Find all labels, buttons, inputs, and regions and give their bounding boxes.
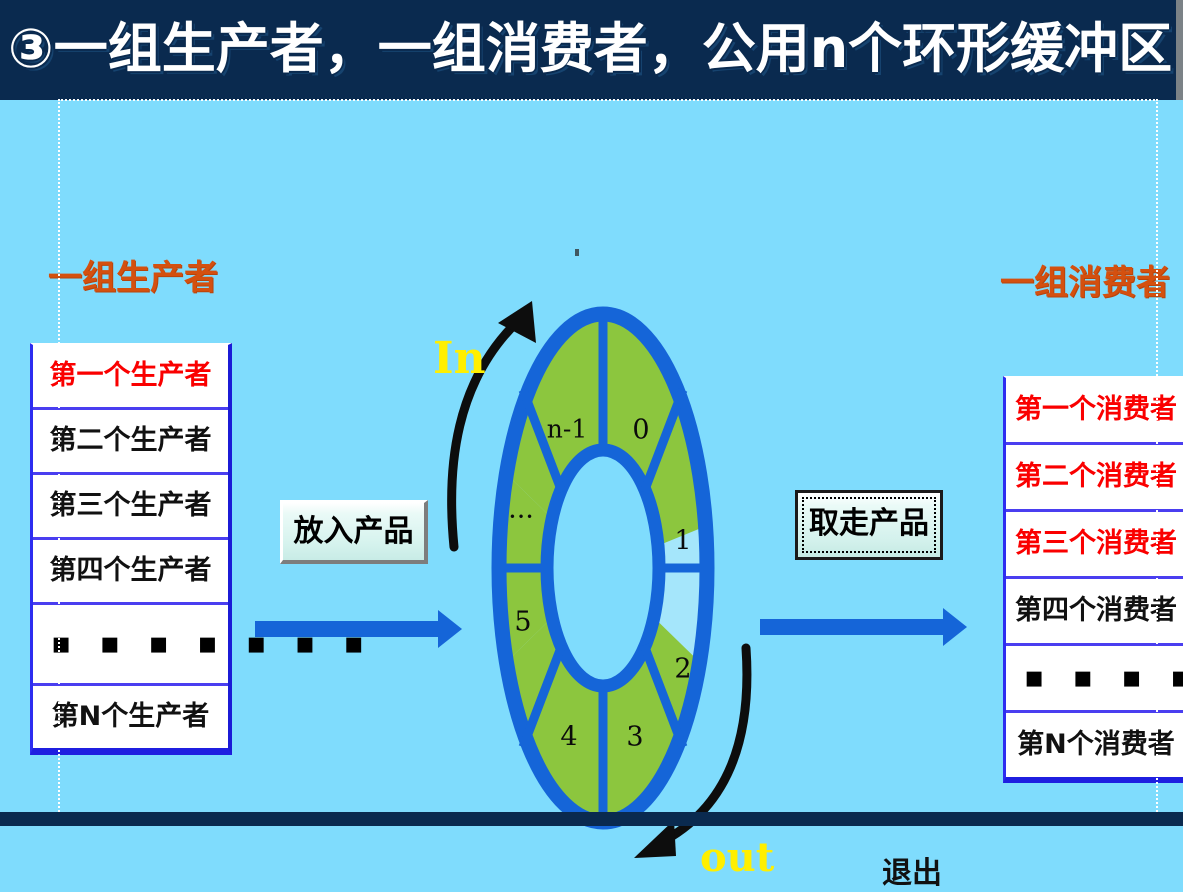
ring-segment-label-n-1: n-1 — [547, 415, 587, 444]
take-product-button[interactable]: 取走产品 — [795, 490, 943, 560]
page-title: ③一组生产者，一组消费者，公用n个环形缓冲区 — [8, 4, 1173, 94]
list-item-ellipsis: ▪ ▪ ▪ ▪ ▪ ▪ ▪ — [33, 605, 228, 686]
ring-segment-label-1: 1 — [674, 526, 691, 557]
list-item[interactable]: 第三个生产者 — [33, 475, 228, 540]
stray-dot — [575, 249, 579, 256]
flow-arrow-producer-to-buffer — [255, 621, 440, 637]
out-label: out — [700, 834, 774, 881]
exit-label: 退出 — [882, 848, 942, 892]
take-product-button-label: 取走产品 — [802, 497, 936, 553]
producer-list: 第一个生产者 第二个生产者 第三个生产者 第四个生产者 ▪ ▪ ▪ ▪ ▪ ▪ … — [30, 343, 232, 755]
list-item[interactable]: 第二个消费者 — [1006, 445, 1183, 512]
ring-segment-label-5: 5 — [514, 607, 531, 638]
list-item[interactable]: 第四个生产者 — [33, 540, 228, 605]
flow-arrow-buffer-to-consumer — [760, 619, 945, 635]
list-item[interactable]: 第N个消费者 — [1006, 713, 1183, 777]
slide-body: 一组生产者 一组消费者 第一个生产者 第二个生产者 第三个生产者 第四个生产者 … — [0, 100, 1183, 812]
list-item[interactable]: 第三个消费者 — [1006, 512, 1183, 579]
ring-segment-label-0: 0 — [632, 415, 649, 446]
list-item-ellipsis: ▪ ▪ ▪ ▪ ▪ ▪ ▪ — [1006, 646, 1183, 713]
list-item[interactable]: 第N个生产者 — [33, 686, 228, 748]
list-item[interactable]: 第一个消费者 — [1006, 378, 1183, 445]
window-edge-strip — [1176, 0, 1183, 100]
in-label: In — [433, 333, 486, 384]
put-product-button[interactable]: 放入产品 — [280, 500, 428, 564]
list-item[interactable]: 第一个生产者 — [33, 345, 228, 410]
consumer-list: 第一个消费者 第二个消费者 第三个消费者 第四个消费者 ▪ ▪ ▪ ▪ ▪ ▪ … — [1003, 376, 1183, 783]
ring-segment-label-4: 4 — [560, 722, 577, 753]
producers-heading: 一组生产者 — [48, 250, 218, 299]
list-item[interactable]: 第四个消费者 — [1006, 579, 1183, 646]
slide-canvas: ③一组生产者，一组消费者，公用n个环形缓冲区 一组生产者 一组消费者 第一个生产… — [0, 0, 1183, 826]
bottom-band — [0, 812, 1183, 826]
title-band: ③一组生产者，一组消费者，公用n个环形缓冲区 — [0, 0, 1183, 100]
consumers-heading: 一组消费者 — [1000, 255, 1170, 304]
list-item[interactable]: 第二个生产者 — [33, 410, 228, 475]
